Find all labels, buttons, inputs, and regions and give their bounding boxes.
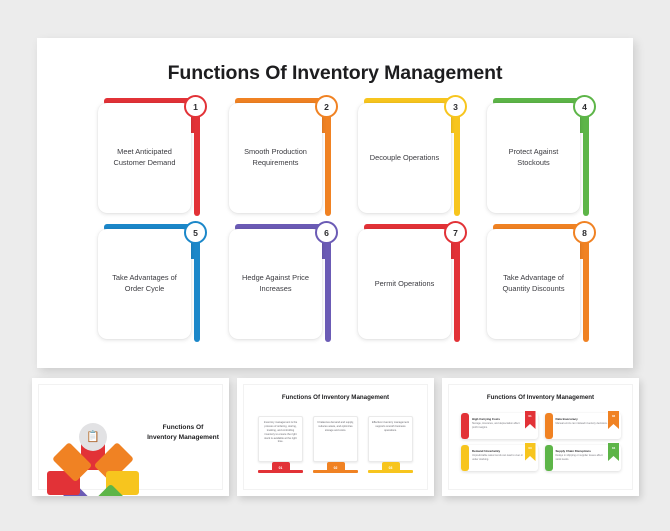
card-accent-right-bar <box>194 112 201 216</box>
wheel-heading: Functions Of Inventory Management <box>147 423 219 443</box>
function-card-1[interactable]: Meet Anticipated Customer Demand1 <box>98 98 201 216</box>
thumbnail-wheel-layout[interactable]: 📋 Functions Of Inventory Management <box>32 378 229 496</box>
three-column-card-text: It balances demand and supply, reduces w… <box>313 416 358 462</box>
card-panel[interactable]: Decouple Operations <box>358 103 451 213</box>
card-number-badge: 7 <box>444 221 467 244</box>
cards-row-bottom: Take Advantages of Order Cycle5Hedge Aga… <box>37 220 633 346</box>
three-column-card-text: Effective inventory management supports … <box>368 416 413 462</box>
four-item-description: Unpredictable sales trends can lead to o… <box>472 454 525 461</box>
function-card-4[interactable]: Protect Against Stockouts4 <box>487 98 590 216</box>
clipboard-icon: 📋 <box>86 432 100 443</box>
card-number-badge: 1 <box>184 95 207 118</box>
card-label: Meet Anticipated Customer Demand <box>105 147 184 168</box>
four-item-description: Manual errors can mislead inventory deci… <box>556 422 609 426</box>
four-item-heading: High Carrying Costs <box>472 417 525 421</box>
three-column-card-03[interactable]: Effective inventory management supports … <box>368 416 413 468</box>
three-column-row: Inventory management is the process of o… <box>258 416 413 468</box>
card-accent-right-bar <box>194 238 201 342</box>
four-item-description: Storage, insurance, and depreciation aff… <box>472 422 525 429</box>
page-title: Functions Of Inventory Management <box>37 62 633 85</box>
card-accent-right-bar <box>454 112 461 216</box>
card-panel[interactable]: Take Advantage of Quantity Discounts <box>487 229 580 339</box>
cards-row-top: Meet Anticipated Customer Demand1Smooth … <box>37 94 633 220</box>
card-number-badge: 3 <box>444 95 467 118</box>
four-item-card-03[interactable]: Demand UncertaintyUnpredictable sales tr… <box>461 445 538 471</box>
function-card-7[interactable]: Permit Operations7 <box>358 224 461 342</box>
thumbnail-four-item-canvas: Functions Of Inventory Management High C… <box>449 385 632 489</box>
card-number-badge: 8 <box>573 221 596 244</box>
card-accent-right-bar <box>583 112 590 216</box>
card-label: Protect Against Stockouts <box>494 147 573 168</box>
card-label: Take Advantage of Quantity Discounts <box>494 273 573 294</box>
card-panel[interactable]: Hedge Against Price Increases <box>229 229 322 339</box>
function-card-6[interactable]: Hedge Against Price Increases6 <box>229 224 332 342</box>
card-accent-right-bar <box>325 112 332 216</box>
card-accent-right-bar <box>325 238 332 342</box>
thumbnail-title: Functions Of Inventory Management <box>244 394 427 401</box>
function-card-8[interactable]: Take Advantage of Quantity Discounts8 <box>487 224 590 342</box>
card-panel[interactable]: Take Advantages of Order Cycle <box>98 229 191 339</box>
card-number-badge: 6 <box>315 221 338 244</box>
card-label: Take Advantages of Order Cycle <box>105 273 184 294</box>
card-number-badge: 4 <box>573 95 596 118</box>
four-item-accent-bar <box>461 413 469 439</box>
thumbnail-wheel-canvas: 📋 Functions Of Inventory Management <box>39 385 222 489</box>
function-card-5[interactable]: Take Advantages of Order Cycle5 <box>98 224 201 342</box>
wheel-hub: 📋 <box>79 423 107 451</box>
four-item-heading: Data Inaccuracy <box>556 417 609 421</box>
card-panel[interactable]: Meet Anticipated Customer Demand <box>98 103 191 213</box>
function-card-3[interactable]: Decouple Operations3 <box>358 98 461 216</box>
card-label: Permit Operations <box>375 279 435 290</box>
card-accent-right-bar <box>454 238 461 342</box>
four-item-card-01[interactable]: High Carrying CostsStorage, insurance, a… <box>461 413 538 439</box>
three-column-card-number: 02 <box>327 462 345 473</box>
three-column-card-number: 01 <box>272 462 290 473</box>
card-number-badge: 2 <box>315 95 338 118</box>
cards-grid: Meet Anticipated Customer Demand1Smooth … <box>37 94 633 346</box>
four-item-accent-bar <box>461 445 469 471</box>
three-column-card-text: Inventory management is the process of o… <box>258 416 303 462</box>
three-column-card-01[interactable]: Inventory management is the process of o… <box>258 416 303 468</box>
card-accent-right-bar <box>583 238 590 342</box>
thumbnail-three-column-layout[interactable]: Functions Of Inventory Management Invent… <box>237 378 434 496</box>
four-item-accent-bar <box>545 413 553 439</box>
main-slide: Functions Of Inventory Management Meet A… <box>37 38 633 368</box>
four-item-accent-bar <box>545 445 553 471</box>
four-item-description: Delays in shipping or supplier issues af… <box>556 454 609 461</box>
four-item-heading: Demand Uncertainty <box>472 449 525 453</box>
thumbnail-title: Functions Of Inventory Management <box>449 394 632 401</box>
function-card-2[interactable]: Smooth Production Requirements2 <box>229 98 332 216</box>
card-number-badge: 5 <box>184 221 207 244</box>
card-panel[interactable]: Smooth Production Requirements <box>229 103 322 213</box>
three-column-card-02[interactable]: It balances demand and supply, reduces w… <box>313 416 358 468</box>
four-item-card-02[interactable]: Data InaccuracyManual errors can mislead… <box>545 413 622 439</box>
thumbnail-three-column-canvas: Functions Of Inventory Management Invent… <box>244 385 427 489</box>
four-item-card-04[interactable]: Supply Chain DisruptionsDelays in shippi… <box>545 445 622 471</box>
thumbnail-strip: 📋 Functions Of Inventory Management Func… <box>32 378 640 496</box>
four-item-heading: Supply Chain Disruptions <box>556 449 609 453</box>
card-label: Decouple Operations <box>370 153 439 164</box>
card-label: Smooth Production Requirements <box>236 147 315 168</box>
card-panel[interactable]: Permit Operations <box>358 229 451 339</box>
four-item-grid: High Carrying CostsStorage, insurance, a… <box>461 413 621 471</box>
thumbnail-four-item-layout[interactable]: Functions Of Inventory Management High C… <box>442 378 639 496</box>
card-label: Hedge Against Price Increases <box>236 273 315 294</box>
card-panel[interactable]: Protect Against Stockouts <box>487 103 580 213</box>
three-column-card-number: 03 <box>382 462 400 473</box>
wheel-diagram: 📋 <box>47 391 139 483</box>
